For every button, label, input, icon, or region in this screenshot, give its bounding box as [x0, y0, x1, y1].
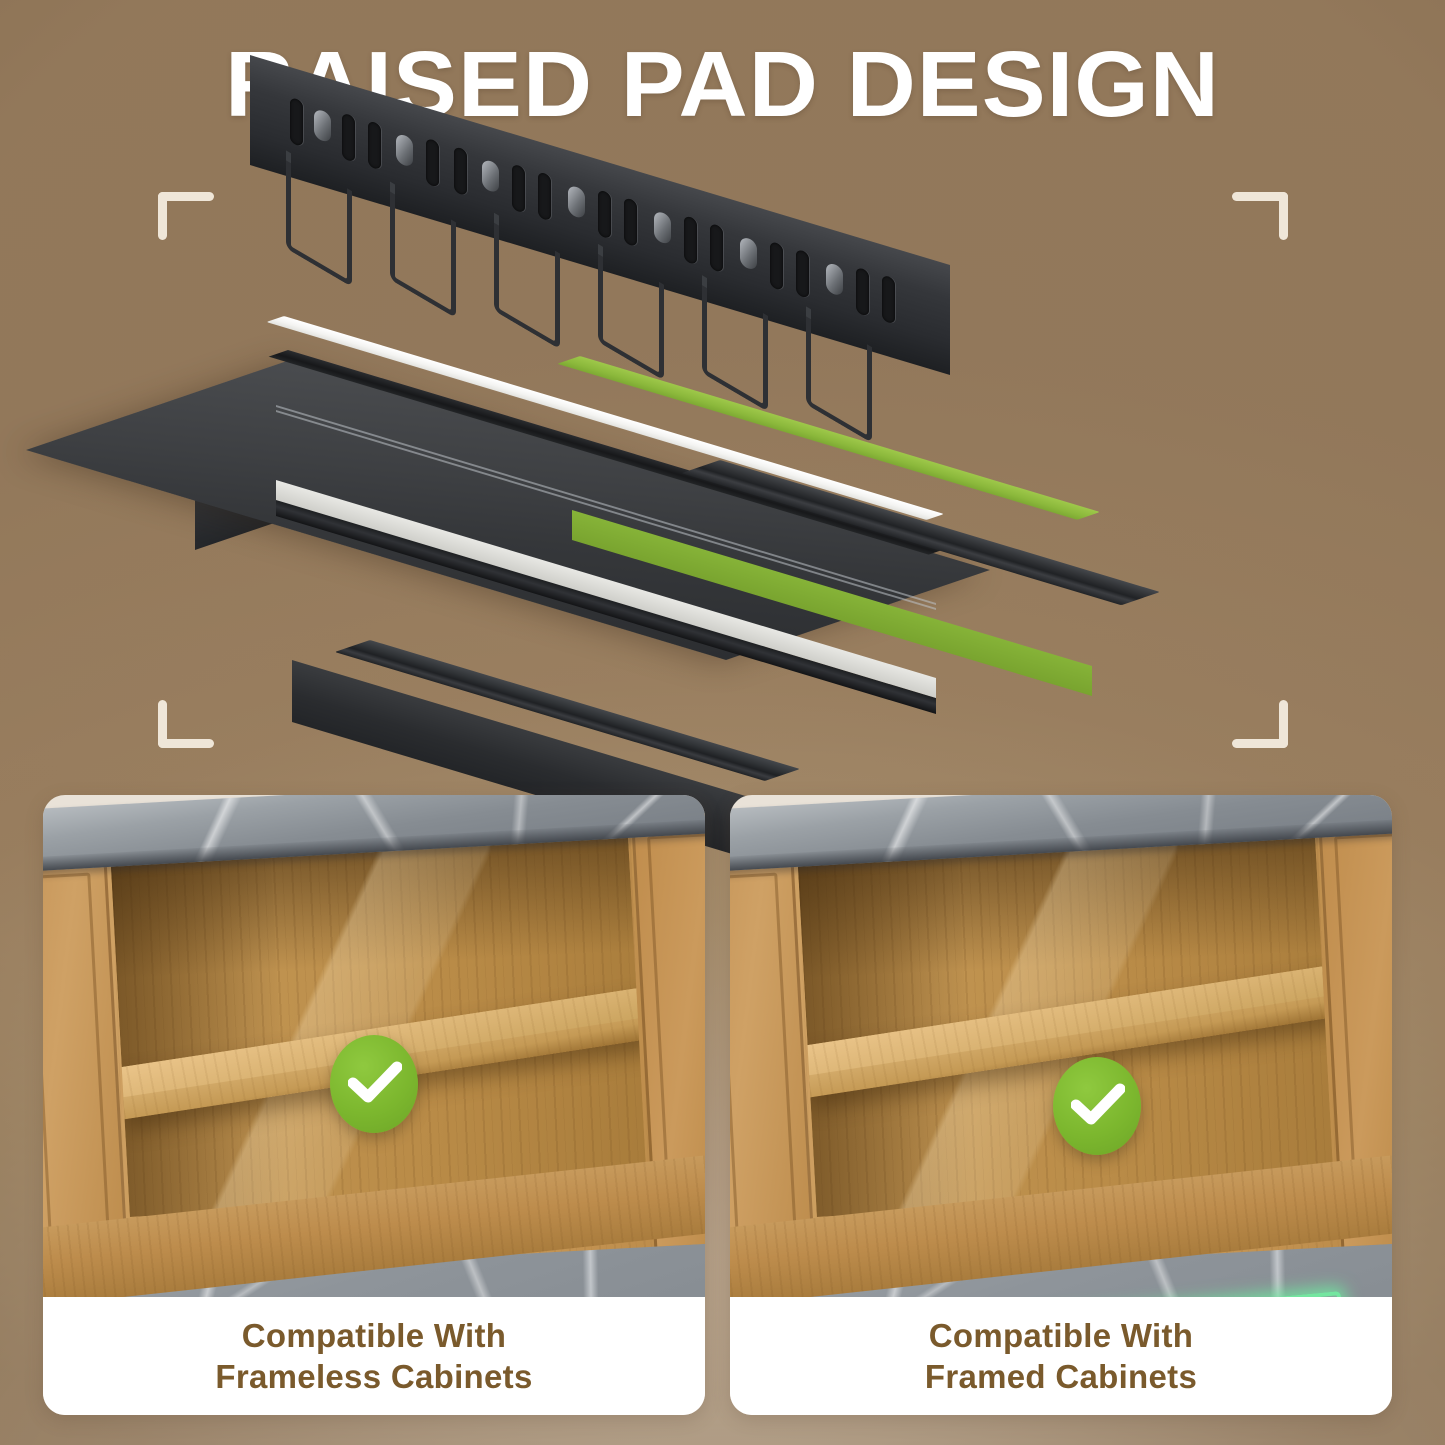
- caption-line-1: Compatible With: [929, 1315, 1194, 1356]
- comparison-panel-frameless: Compatible With Frameless Cabinets: [43, 795, 705, 1415]
- caption-line-2: Frameless Cabinets: [215, 1356, 532, 1397]
- panel-caption-frameless: Compatible With Frameless Cabinets: [43, 1297, 705, 1415]
- caption-line-1: Compatible With: [242, 1315, 507, 1356]
- caption-line-2: Framed Cabinets: [925, 1356, 1197, 1397]
- comparison-panel-framed: Compatible With Framed Cabinets: [730, 795, 1392, 1415]
- check-icon: [348, 1061, 402, 1105]
- cabinet-opening: [111, 832, 648, 1217]
- page-title: RAISED PAD DESIGN: [0, 34, 1445, 134]
- product-hero-image: [250, 160, 1250, 800]
- cabinet-body: [730, 812, 1392, 1280]
- corner-bracket-top-left-icon: [158, 192, 214, 240]
- cabinet-opening: [798, 832, 1335, 1217]
- status-badge: [1053, 1057, 1141, 1155]
- cabinet-scene-framed: [730, 795, 1392, 1300]
- panel-caption-framed: Compatible With Framed Cabinets: [730, 1297, 1392, 1415]
- status-badge: [330, 1035, 418, 1133]
- check-icon: [1071, 1083, 1125, 1127]
- corner-bracket-bottom-left-icon: [158, 700, 214, 748]
